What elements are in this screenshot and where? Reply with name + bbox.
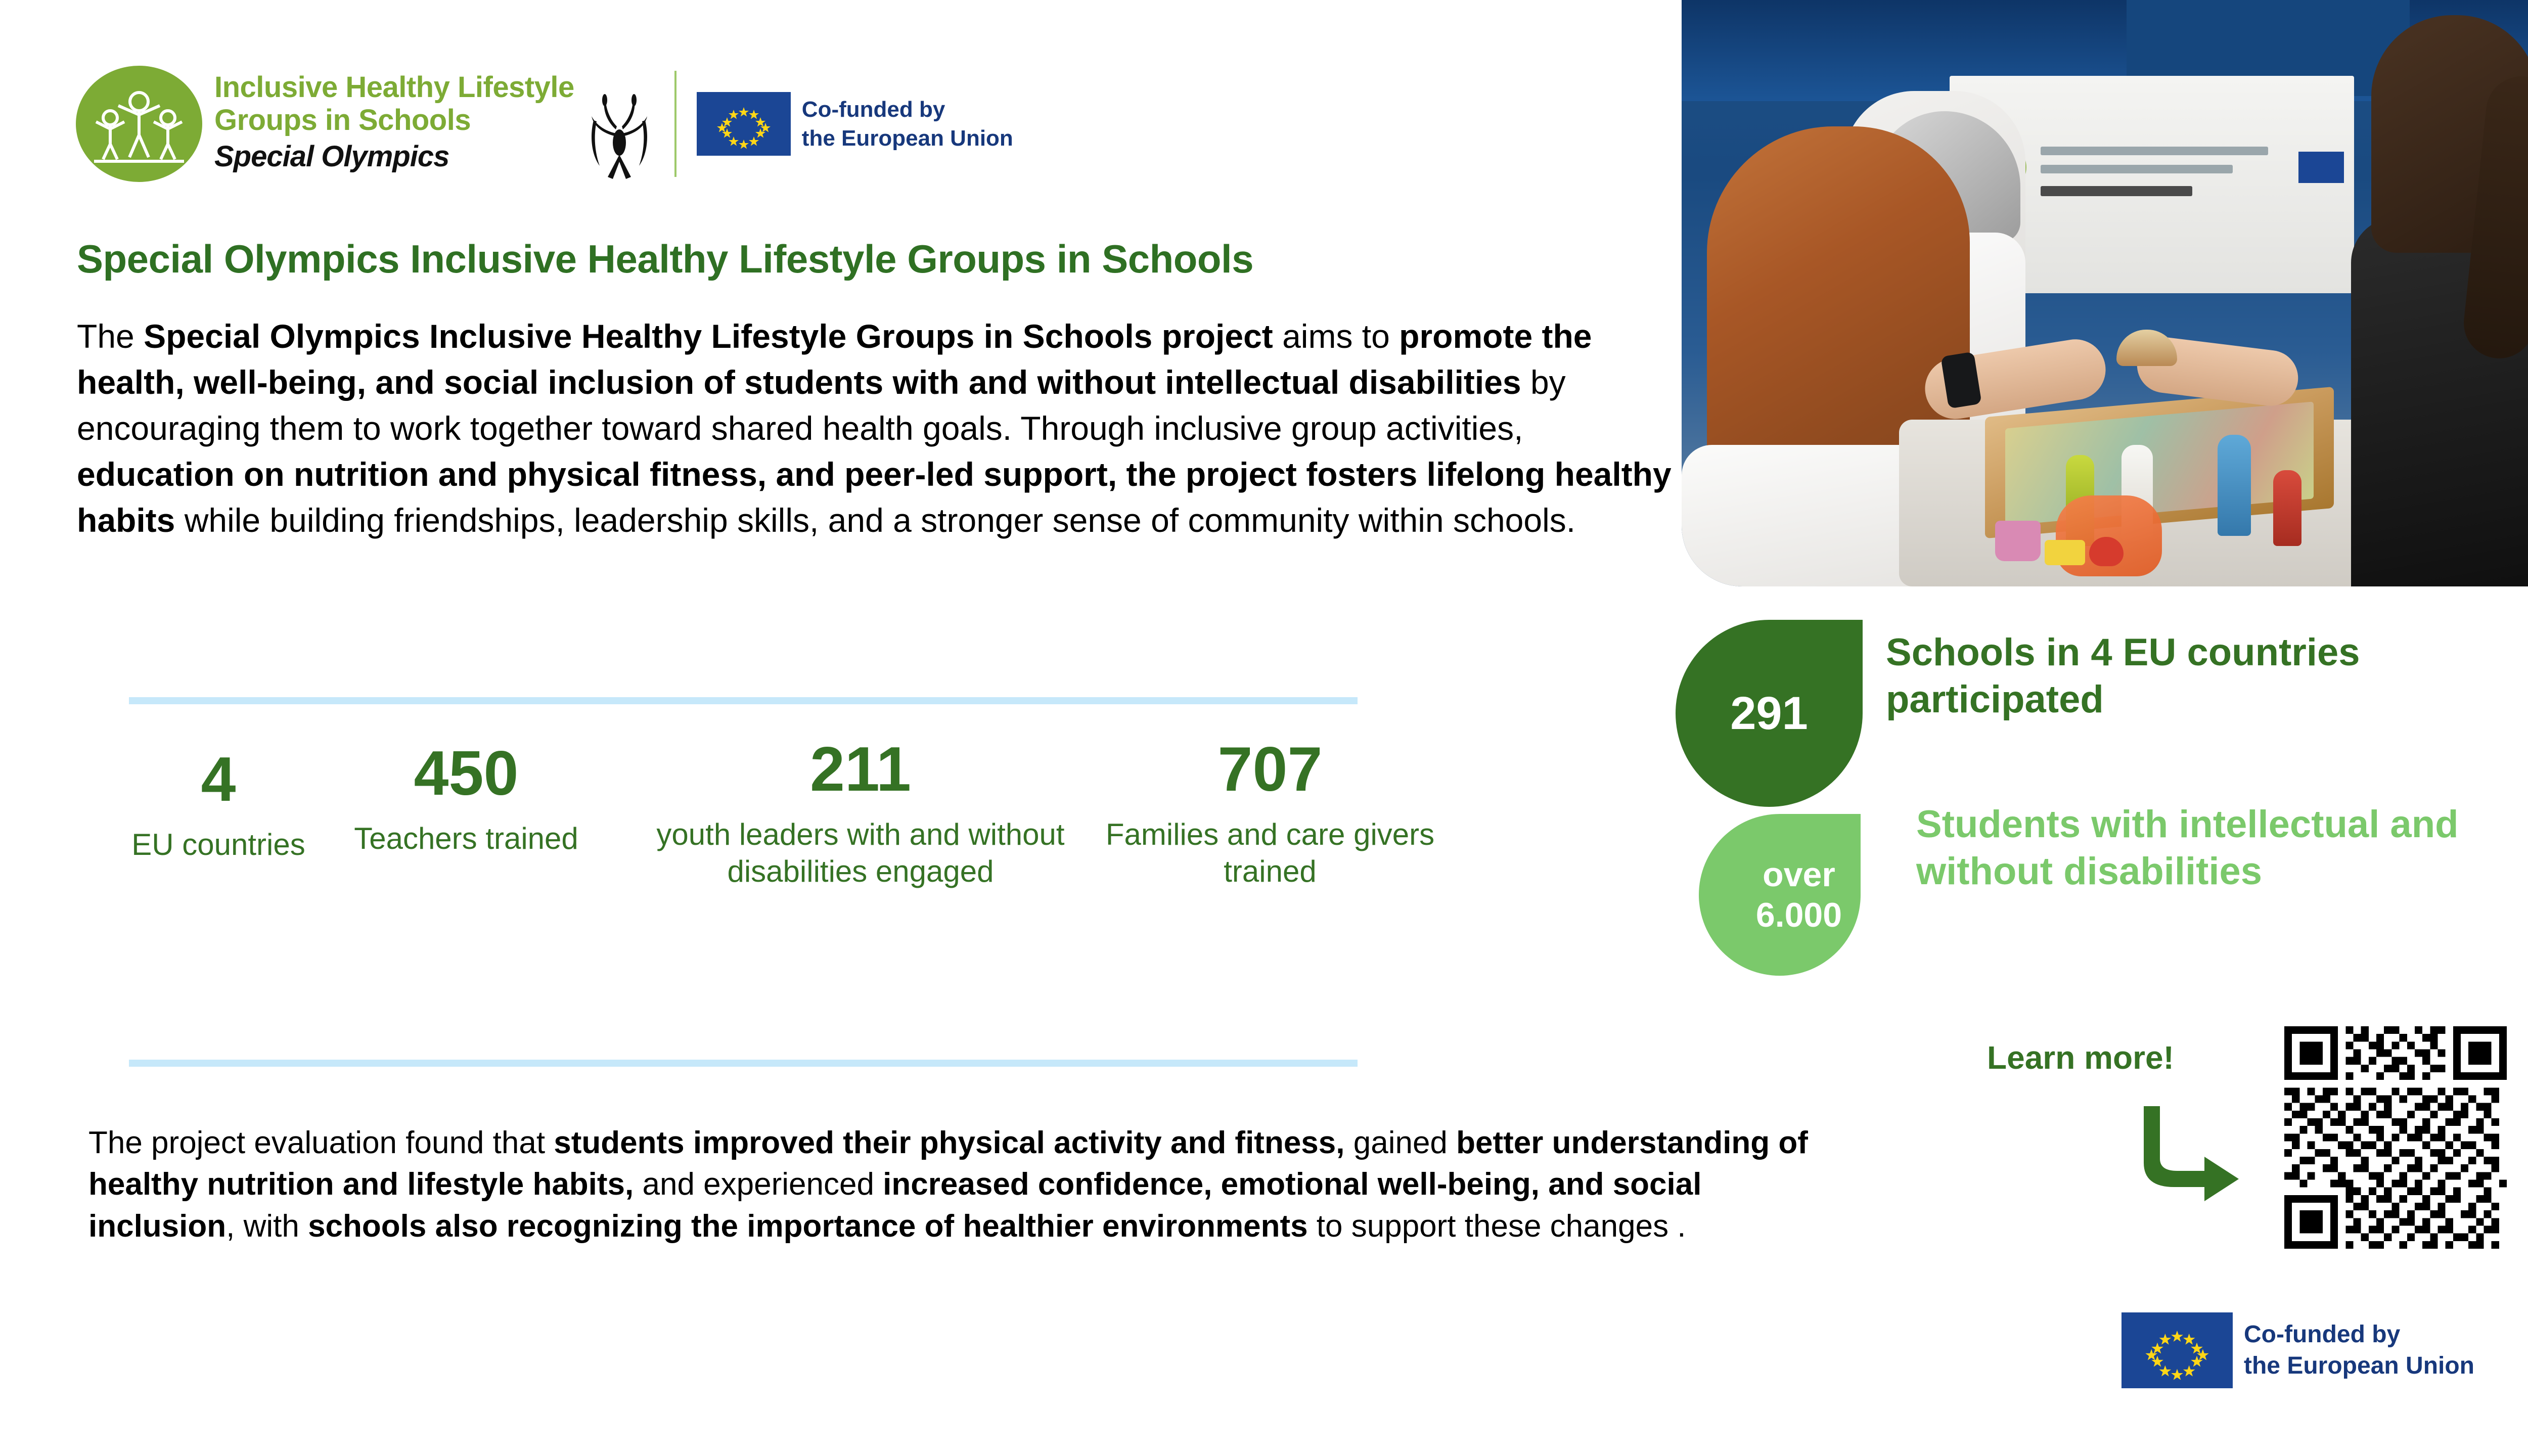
stat-item: 707 Families and care givers trained xyxy=(1073,738,1467,890)
photo-game-board-surface xyxy=(2005,401,2314,525)
stat-label: youth leaders with and without disabilit… xyxy=(613,816,1108,890)
photo-toy-bottle-red xyxy=(2273,470,2301,546)
logo-line-1: Inclusive Healthy Lifestyle xyxy=(214,71,574,104)
stat-item: 211 youth leaders with and without disab… xyxy=(613,738,1108,890)
stat-number: 450 xyxy=(289,742,643,805)
learn-more-label: Learn more! xyxy=(1987,1039,2174,1076)
stat-label: Teachers trained xyxy=(289,820,643,857)
eval-text-c: gained xyxy=(1345,1125,1457,1160)
logo-line-3: Special Olympics xyxy=(214,137,574,176)
evaluation-paragraph: The project evaluation found that studen… xyxy=(88,1122,1848,1247)
photo-toy-cheese xyxy=(2045,540,2085,565)
eu-text-line-1-bottom: Co-funded by xyxy=(2244,1319,2474,1350)
project-photo xyxy=(1682,0,2528,586)
divider-bottom xyxy=(129,1060,1358,1067)
highlight-light-badge: over 6.000 xyxy=(1699,814,1861,976)
eu-flag-icon xyxy=(697,92,791,156)
highlight-dark-value: 291 xyxy=(1730,687,1808,740)
eval-text-e: and experienced xyxy=(634,1167,883,1202)
eu-text-line-1: Co-funded by xyxy=(802,95,1013,124)
stat-item: 450 Teachers trained xyxy=(289,742,643,857)
infographic-page: Inclusive Healthy Lifestyle Groups in Sc… xyxy=(0,0,2528,1456)
eval-text-b: students improved their physical activit… xyxy=(554,1125,1344,1160)
photo-toy-cup-pink xyxy=(1995,521,2041,561)
divider-top xyxy=(129,697,1358,704)
eu-flag-icon-bottom xyxy=(2121,1312,2233,1388)
logo-divider xyxy=(674,71,676,177)
stat-number: 211 xyxy=(613,738,1108,801)
highlight-dark-caption: Schools in 4 EU countries participated xyxy=(1886,629,2472,723)
photo-toy-bottle-blue xyxy=(2218,435,2251,536)
eu-text-line-2-bottom: the European Union xyxy=(2244,1350,2474,1382)
logo-line-2: Groups in Schools xyxy=(214,104,574,137)
top-logo-bar: Inclusive Healthy Lifestyle Groups in Sc… xyxy=(76,66,1013,182)
special-olympics-mark-icon xyxy=(581,90,657,181)
special-olympics-people-icon xyxy=(89,88,189,164)
eval-text-h: schools also recognizing the importance … xyxy=(308,1209,1308,1244)
intro-paragraph: The Special Olympics Inclusive Healthy L… xyxy=(77,313,1685,543)
photo-banner-line-2 xyxy=(2041,165,2233,173)
stat-number: 707 xyxy=(1073,738,1467,801)
curved-arrow-down-right-icon xyxy=(2129,1102,2245,1218)
photo-toy-strawberry xyxy=(2089,537,2124,566)
eval-text-i: to support these changes . xyxy=(1308,1209,1686,1244)
eu-cofunded-logo-bottom: Co-funded by the European Union xyxy=(2121,1312,2474,1388)
page-title: Special Olympics Inclusive Healthy Lifes… xyxy=(77,238,1619,281)
intro-text-b: Special Olympics Inclusive Healthy Lifes… xyxy=(144,317,1273,355)
intro-text-c: aims to xyxy=(1273,317,1399,355)
eu-text-line-2: the European Union xyxy=(802,124,1013,153)
photo-student xyxy=(2351,15,2528,586)
intro-text-g: while building friendships, leadership s… xyxy=(175,502,1575,539)
eval-text-a: The project evaluation found that xyxy=(88,1125,554,1160)
eval-text-g: , with xyxy=(226,1209,308,1244)
photo-banner-eu-flag xyxy=(2298,152,2344,183)
eu-cofunded-text: Co-funded by the European Union xyxy=(802,95,1013,153)
photo-banner-line-1 xyxy=(2041,147,2268,155)
highlight-light-value: over 6.000 xyxy=(1748,854,1849,935)
logo-wordmark: Inclusive Healthy Lifestyle Groups in Sc… xyxy=(214,71,574,176)
qr-code-icon[interactable] xyxy=(2284,1026,2507,1249)
stat-label: Families and care givers trained xyxy=(1073,816,1467,890)
highlight-light-caption: Students with intellectual and without d… xyxy=(1916,801,2528,895)
eu-cofunded-logo-top: Co-funded by the European Union xyxy=(697,92,1013,156)
photo-banner-line-3 xyxy=(2041,186,2192,196)
stats-row: 4 EU countries 450 Teachers trained 211 … xyxy=(77,748,1467,1041)
highlight-dark-badge: 291 xyxy=(1676,620,1863,807)
eu-cofunded-text-bottom: Co-funded by the European Union xyxy=(2244,1319,2474,1382)
special-olympics-badge xyxy=(76,66,202,182)
intro-text-a: The xyxy=(77,317,144,355)
